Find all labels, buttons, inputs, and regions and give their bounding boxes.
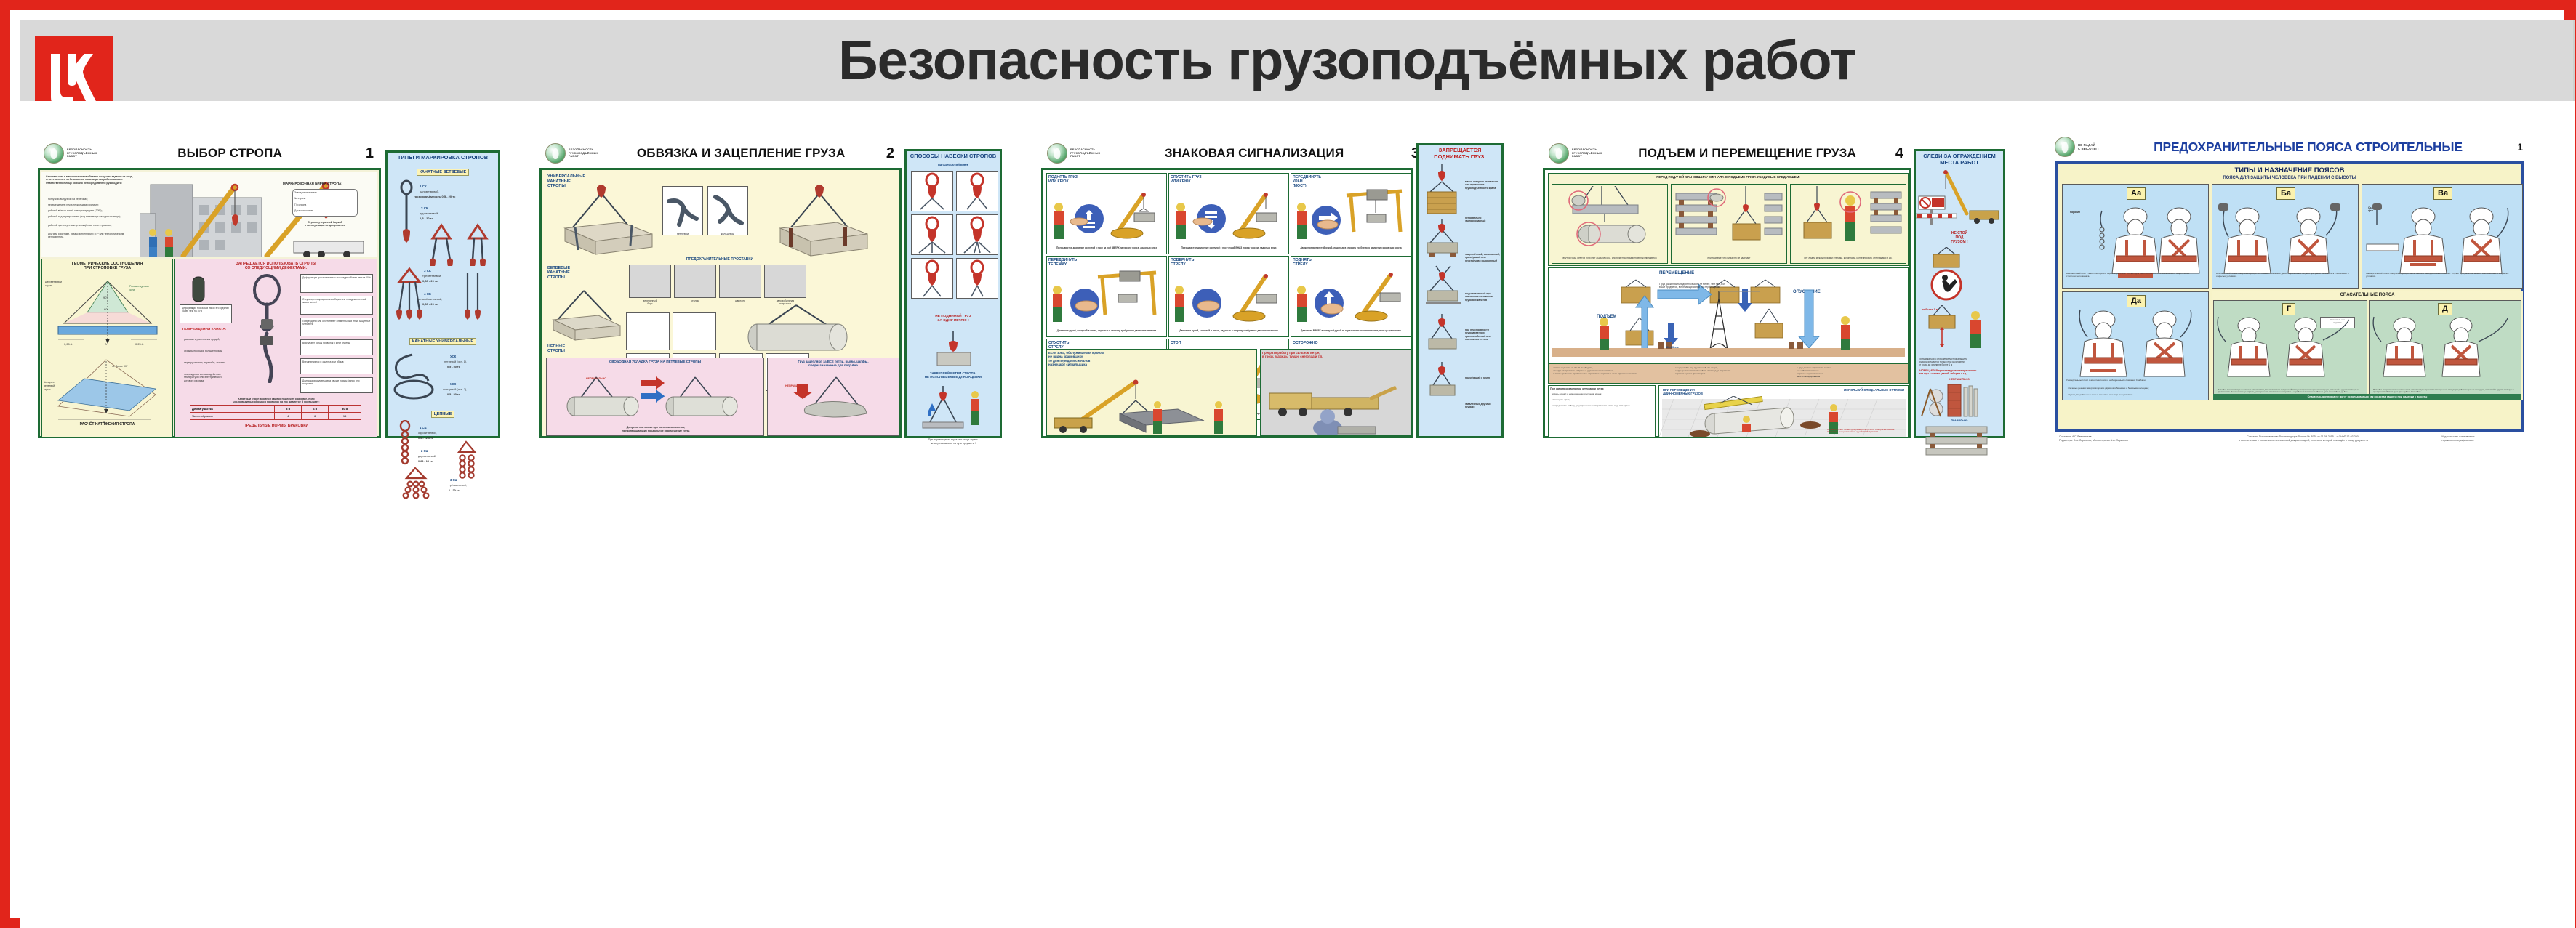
signal-name-4: ПОВЕРНУТЬ СТРЕЛУ <box>1169 257 1288 268</box>
svg-text:4 СК: 4 СК <box>424 292 431 296</box>
tag-note: Строп с утерянной биркой к эксплуатации … <box>289 219 361 229</box>
rescue-title: СПАСАТЕЛЬНЫЕ ПОЯСА <box>2212 291 2523 299</box>
check-text-0: внутри груза (внутри труб) нет льда, мус… <box>1552 255 1667 261</box>
poster-2-side-title: СПОСОБЫ НАВЕСКИ СТРОПОВ <box>907 151 1000 161</box>
rope-damage-1: обрывы проволок больше нормы; <box>182 348 233 354</box>
th-2: 6 d <box>302 406 329 413</box>
p2-bottom-left-title: СВОБОДНАЯ УКЛАДКА ГРУЗА НА ПЕТЛЕВЫЕ СТРО… <box>547 358 763 366</box>
signal-name-8: ОСТОРОЖНО <box>1291 339 1411 347</box>
svg-text:зона: зона <box>129 289 135 291</box>
tag-title: МАРКИРОВОЧНАЯ БИРКА СТРОПА: <box>281 180 344 187</box>
poster-1-head: БЕЗОПАСНОСТЬ ГРУЗОПОДЪЁМНЫХ РАБОТ ВЫБОР … <box>38 139 381 168</box>
norms-title: ПРЕДЕЛЬНЫЕ НОРМЫ БРАКОВКИ <box>175 422 377 429</box>
svg-text:Двухветвевой: Двухветвевой <box>45 281 62 283</box>
signal-name-5: ПОДНЯТЬ СТРЕЛУ <box>1291 257 1411 268</box>
stand-inner-area: ЛУКОЙЛ Безопасность грузоподъёмных работ… <box>20 20 2575 928</box>
svg-text:петлевой (исп. 1),: петлевой (исп. 1), <box>444 360 467 363</box>
poster-3-body: ПОДНЯТЬ ГРУЗ ИЛИ КРЮК <box>1041 168 1413 438</box>
p3-bottom-left-note: Если зона, обслуживаемая краном, не видн… <box>1047 350 1256 368</box>
poster-4-head: БЕЗОПАСНОСТЬ ГРУЗОПОДЪЁМНЫХ РАБОТ ПОДЪЕМ… <box>1543 139 1911 168</box>
intro-bullet-2: работой вблизи линий электропередачи (ЛЭ… <box>47 208 138 214</box>
emblem-caption: БЕЗОПАСНОСТЬ ГРУЗОПОДЪЁМНЫХ РАБОТ <box>1070 148 1100 158</box>
poster-4-side: СЛЕДИ ЗА ОГРАЖДЕНИЕМ МЕСТА РАБОТ <box>1914 149 2005 438</box>
knot-box-0: петлевой <box>662 186 703 235</box>
signal-name-3: ПЕРЕДВИНУТЬ ТЕЛЕЖКУ <box>1047 257 1166 268</box>
th-0: Длина участка <box>190 406 275 413</box>
geometry-panel: ГЕОМЕТРИЧЕСКИЕ СООТНОШЕНИЯ ПРИ СТРОПОВКЕ… <box>41 259 173 437</box>
p4-mid-note: следи, чтобы под грузом не было людей, а… <box>1674 366 1783 377</box>
p2-bottom-left-tag-1: ПРАВИЛЬНО <box>647 393 667 399</box>
poster-5-footer-center: Согласно Постановлению Ростехнадзора Рос… <box>2194 435 2412 442</box>
side-badge-0: КАНАТНЫЕ ВЕТВЕВЫЕ <box>417 169 470 176</box>
svg-text:1 СК: 1 СК <box>420 185 427 188</box>
svg-text:0,25 A: 0,25 A <box>135 342 144 346</box>
p2-bottom-mid-title: Груз зацепляют за ВСЕ петли, рымы, цапфы… <box>768 358 899 368</box>
poster-1-body: Стропальщик и машинист крана обязаны пол… <box>38 168 381 438</box>
spacer-label-0: деревянный брус <box>629 298 671 307</box>
poster-3[interactable]: БЕЗОПАСНОСТЬ ГРУЗОПОДЪЁМНЫХ РАБОТ ЗНАКОВ… <box>1041 139 1504 438</box>
p3-side-bullet-2: защемлённый, засыпанный, примёрзший или … <box>1464 251 1501 264</box>
poster-5[interactable]: НЕ ПАДАЙ С ВЫСОТЫ ! ПРЕДОХРАНИТЕЛЬНЫЕ ПО… <box>2049 134 2530 444</box>
check-cell-0: внутри груза (внутри труб) нет льда, мус… <box>1552 184 1668 264</box>
hook-cell-0 <box>626 312 670 350</box>
hook-method-5 <box>956 258 998 299</box>
p2-side-bottom-title: ЗАКРЕПЛЯЙ ВЕТВИ СТРОПА, НЕ ИСПОЛЬЗУЕМЫЕ … <box>907 370 1000 381</box>
poster-2[interactable]: БЕЗОПАСНОСТЬ ГРУЗОПОДЪЁМНЫХ РАБОТ ОБВЯЗК… <box>539 139 1002 438</box>
svg-text:0,25 A: 0,25 A <box>64 342 73 346</box>
poster-4-body: ПЕРЕД ПОДАЧЕЙ КРАНОВЩИКУ СИГНАЛА О ПОДЪЕ… <box>1543 168 1911 438</box>
intro-bullet-3: работой над перекрытиями (под ними могут… <box>47 214 138 219</box>
svg-text:двухветвевой,: двухветвевой, <box>418 455 436 458</box>
safety-emblem-icon <box>2055 137 2075 157</box>
check-text-2: нет людей между грузом и стенами, колонн… <box>1791 255 1906 261</box>
tag-line-1: № стропа <box>293 195 357 201</box>
defect-callout-left: Деформация троса или износ его средних б… <box>180 304 232 323</box>
defect-text-2: Повреждены или отсутствуют элементы или … <box>301 318 372 327</box>
hook-method-0 <box>911 171 953 211</box>
p4-side-dist-label: не более 1 м <box>1920 307 1939 312</box>
p4-pipe-note: Оттяжки служат только для разворота груз… <box>1826 427 1906 436</box>
emblem-caption: БЕЗОПАСНОСТЬ ГРУЗОПОДЪЁМНЫХ РАБОТ <box>569 148 598 158</box>
poster-4-title: ПОДЪЕМ И ПЕРЕМЕЩЕНИЕ ГРУЗА <box>1602 146 1895 161</box>
svg-text:0,5 - 50 тс: 0,5 - 50 тс <box>447 393 460 396</box>
poster-5-footer-left: Составил: А.Г. Лаврентьев Редакторы: А.А… <box>2059 435 2168 442</box>
defect-text-5: Длина каната уменьшена свыше нормы (изно… <box>301 378 372 387</box>
stand-header: ЛУКОЙЛ Безопасность грузоподъёмных работ <box>20 20 2575 101</box>
belt-code-Ba: Ба <box>2276 187 2295 200</box>
p4-bottom-left: При самопроизвольном опускании груза: по… <box>1548 385 1656 437</box>
svg-text:3 СЦ: 3 СЦ <box>450 478 458 482</box>
p4-low-left-2: не продолжать работу до устранения неисп… <box>1549 403 1655 409</box>
hook-method-3 <box>956 214 998 255</box>
svg-text:A: A <box>105 342 107 346</box>
rope-left-note: Деформация троса или износ его средних б… <box>180 305 231 314</box>
defect-callout-4: Внешние износ и зацепка или обрыв <box>300 358 373 374</box>
phase-label-1: ПЕРЕМЕЩЕНИЕ <box>1658 270 1696 278</box>
side-badge-2: ЦЕПНЫЕ <box>431 411 455 418</box>
emblem-caption: БЕЗОПАСНОСТЬ ГРУЗОПОДЪЁМНЫХ РАБОТ <box>67 148 97 158</box>
spacer-label-2: швеллер <box>719 298 761 304</box>
belt-code-D: Д <box>2438 303 2452 315</box>
belt-desc-Da: Универсальный пояс с амортизатором и наб… <box>2065 378 2206 384</box>
spacer-2 <box>719 265 761 298</box>
svg-text:одноветвевой,: одноветвевой, <box>418 432 437 435</box>
p4-side-warn: НЕ СТОЙ ПОД ГРУЗОМ ! <box>1916 230 2003 246</box>
p4-down-note: • груз должен опускаться плавно на забла… <box>1796 366 1905 379</box>
poster-5-number: 1 <box>2517 141 2523 153</box>
svg-text:0,5 - 12,5 тс: 0,5 - 12,5 тс <box>418 437 433 440</box>
svg-text:2 СЦ: 2 СЦ <box>421 449 429 453</box>
poster-3-head: БЕЗОПАСНОСТЬ ГРУЗОПОДЪЁМНЫХ РАБОТ ЗНАКОВ… <box>1041 139 1427 168</box>
safety-emblem-icon <box>1047 143 1067 164</box>
p3-bottom-right: Прекрати работу при сильном ветре, в гро… <box>1260 349 1411 436</box>
svg-text:0,5 - 50 тс: 0,5 - 50 тс <box>447 366 460 368</box>
p4-notes-strip: • после подъёма на 20-30 см убедись, что… <box>1548 363 1909 384</box>
poster-5-head: НЕ ПАДАЙ С ВЫСОТЫ ! ПРЕДОХРАНИТЕЛЬНЫЕ ПО… <box>2049 134 2530 159</box>
rope-damage-title: ПОВРЕЖДЕНИЯ КАНАТА: <box>181 326 228 334</box>
signal-cell-0: ПОДНЯТЬ ГРУЗ ИЛИ КРЮК <box>1046 173 1167 254</box>
hook-method-2 <box>911 214 953 255</box>
th-1: 3 d <box>275 406 302 413</box>
safety-emblem-icon <box>44 143 64 164</box>
poster-5-subtitle2: ПОЯСА ДЛЯ ЗАЩИТЫ ЧЕЛОВЕКА ПРИ ПАДЕНИИ С … <box>2058 174 2521 180</box>
p2-bottom-left-note: Допускается только при наличии элементов… <box>547 424 764 434</box>
defect-text-4: Внешние износ и зацепка или обрыв <box>301 359 372 365</box>
svg-text:не более 90°: не более 90° <box>112 365 128 368</box>
svg-text:строп: строп <box>45 284 52 287</box>
svg-text:ветвевой: ветвевой <box>44 384 55 387</box>
td-2: 6 <box>302 413 329 420</box>
defects-title: ЗАПРЕЩАЕТСЯ ИСПОЛЬЗОВАТЬ СТРОПЫ СО СЛЕДУ… <box>175 259 377 272</box>
p4-lift-note: • после подъёма на 20-30 см убедись, что… <box>1552 366 1661 377</box>
tag-line-2: Г/п стропа <box>293 202 357 208</box>
emblem-caption: НЕ ПАДАЙ С ВЫСОТЫ ! <box>2078 143 2099 151</box>
svg-text:УСК: УСК <box>450 355 457 358</box>
p3-side-bullet-3: подготовленный при наклонном положении г… <box>1464 291 1501 303</box>
intro-text: Стропальщик и машинист крана обязаны пол… <box>44 174 139 186</box>
emblem-caption: БЕЗОПАСНОСТЬ ГРУЗОПОДЪЁМНЫХ РАБОТ <box>1572 148 1602 158</box>
rescue-warn-strip: Спасательные пояса не могут использовать… <box>2213 394 2521 400</box>
defect-callout-5: Длина каната уменьшена свыше нормы (изно… <box>300 377 373 393</box>
calc-title: РАСЧЁТ НАТЯЖЕНИЯ СТРОПА <box>42 421 172 428</box>
p4-move-note: • груз должен быть поднят на высоту не м… <box>1658 281 1781 290</box>
p2-side-bottom-note: При перемещении груза они могут задеть з… <box>907 437 1000 446</box>
belt-code-Aa: Аа <box>2127 187 2146 200</box>
p4-pipe-title: ПРИ ПЕРЕМЕЩЕНИИ ДЛИННОМЕРНЫХ ГРУЗОВ <box>1661 387 1704 397</box>
spacer-label-1: уголок <box>674 298 716 304</box>
svg-text:1 СЦ: 1 СЦ <box>420 426 428 429</box>
svg-text:двухветвевой,: двухветвевой, <box>420 211 438 215</box>
poster-4[interactable]: БЕЗОПАСНОСТЬ ГРУЗОПОДЪЁМНЫХ РАБОТ ПОДЪЕМ… <box>1543 139 2005 438</box>
intro-bullet-1: перемещением груза несколькими кранами; <box>47 202 138 208</box>
signal-desc-3: Движение рукой, согнутой в кисти, ладонь… <box>1047 328 1166 334</box>
spacer-1 <box>674 265 716 298</box>
poster-3-side-title: ЗАПРЕЩАЕТСЯ ПОДНИМАТЬ ГРУЗ: <box>1419 145 1501 161</box>
hook-method-4 <box>911 258 953 299</box>
hook-cell-1 <box>673 312 716 350</box>
p4-pipe-title2: ИСПОЛЬЗУЙ СПЕЦИАЛЬНЫЕ ОТТЯЖКИ <box>1842 387 1906 393</box>
poster-1[interactable]: БЕЗОПАСНОСТЬ ГРУЗОПОДЪЁМНЫХ РАБОТ ВЫБОР … <box>38 139 500 438</box>
p3-side-bullet-4: при неисправности грузозахватных приспос… <box>1464 327 1501 342</box>
p4-side-dist-note: Приближаться к опускаемому стропальщику … <box>1916 356 2003 368</box>
svg-text:1 - 20 тс: 1 - 20 тс <box>449 489 460 492</box>
check-text-1: при подъёме груз ни за что не задевает <box>1672 255 1786 261</box>
td-1: 4 <box>275 413 302 420</box>
defect-table: Длина участка 3 d 6 d 30 d Число обрывов… <box>190 405 361 420</box>
poster-3-side: ЗАПРЕЩАЕТСЯ ПОДНИМАТЬ ГРУЗ: масса которо… <box>1416 143 1504 438</box>
belt-code-Da: Да <box>2127 295 2146 307</box>
svg-text:четырёхветвевой,: четырёхветвевой, <box>418 297 442 301</box>
crane-scene: Стропальщик и машинист крана обязаны пол… <box>41 172 377 257</box>
p4-pipe-scene: ПРИ ПЕРЕМЕЩЕНИИ ДЛИННОМЕРНЫХ ГРУЗОВ ИСПО… <box>1658 385 1909 437</box>
rescue-belts-panel: СПАСАТЕЛЬНЫЕ ПОЯСА Г Спасательная верёвк… <box>2212 291 2523 400</box>
svg-text:60°: 60° <box>104 307 108 311</box>
side-badge-1: КАНАТНЫЕ УНИВЕРСАЛЬНЫЕ <box>409 338 476 345</box>
p4-checks-band: ПЕРЕД ПОДАЧЕЙ КРАНОВЩИКУ СИГНАЛА О ПОДЪЕ… <box>1548 173 1909 266</box>
knot-label-0: петлевой <box>663 231 702 235</box>
intro-bullet-0: погрузкой-выгрузкой на перегонах; <box>47 196 138 202</box>
belt-desc-Va: Универсальный пояс с амортизатором, с на… <box>2364 271 2520 280</box>
intro-bullet-4: работой при отсутствии утверждённых схем… <box>47 222 138 228</box>
poster-4-side-title: СЛЕДИ ЗА ОГРАЖДЕНИЕМ МЕСТА РАБОТ <box>1916 151 2003 167</box>
svg-text:трёхветвевой,: трёхветвевой, <box>422 274 441 278</box>
svg-text:УСК: УСК <box>450 382 457 386</box>
poster-1-number: 1 <box>366 145 374 162</box>
p3-side-bullet-1: неправильно застропованный <box>1464 215 1501 225</box>
poster-5-body: ТИПЫ И НАЗНАЧЕНИЕ ПОЯСОВ ПОЯСА ДЛЯ ЗАЩИТ… <box>2055 161 2524 432</box>
p2-block3-title: ЦЕПНЫЕ СТРОПЫ <box>546 343 566 355</box>
belt-desc-Aa: Безлямочный пояс с амортизатором и одним… <box>2065 271 2206 280</box>
hook-method-1 <box>956 171 998 211</box>
poster-2-title: ОБВЯЗКА И ЗАЦЕПЛЕНИЕ ГРУЗА <box>598 146 886 161</box>
signal-desc-0: Прерывистое движение согнутой к носу за … <box>1047 245 1166 251</box>
p4-low-left-1: освободить крюк; <box>1549 398 1655 403</box>
spacer-3 <box>764 265 806 298</box>
signal-name-7: СТОП <box>1169 339 1288 347</box>
p4-low-left-title: При самопроизвольном опускании груза: <box>1549 386 1655 392</box>
belt-desc-Ba: Безлямочный пояс с амортизатором, с плеч… <box>2215 271 2356 280</box>
svg-text:Рекомендуемая: Рекомендуемая <box>129 285 149 288</box>
svg-text:3 СК: 3 СК <box>424 269 431 273</box>
svg-text:90°: 90° <box>103 296 108 299</box>
poster-1-side-title: ТИПЫ И МАРКИРОВКА СТРОПОВ <box>388 153 498 163</box>
belt-box-Da: Да <box>2062 291 2209 400</box>
svg-text:2 СК: 2 СК <box>421 206 428 210</box>
belt-box-G: Г Спасательная верёвка <box>2213 300 2367 398</box>
poster-2-body: УНИВЕРСАЛЬНЫЕ КАНАТНЫЕ СТРОПЫ <box>539 168 902 438</box>
poster-2-side-sub: на однорогий крюк <box>907 161 1000 169</box>
p3-side-bullet-5: примёрзший к земле <box>1464 375 1501 381</box>
poster-2-side: СПОСОБЫ НАВЕСКИ СТРОПОВ на однорогий крю… <box>904 149 1002 438</box>
p3-bottom-right-note: Прекрати работу при сильном ветре, в гро… <box>1261 350 1411 360</box>
safety-stand-frame: ЛУКОЙЛ Безопасность грузоподъёмных работ… <box>0 0 2576 928</box>
svg-text:0,63 - 20 тс: 0,63 - 20 тс <box>422 302 438 306</box>
poster-1-title: ВЫБОР СТРОПА <box>97 146 365 161</box>
p2-bottom-mid-tag: НЕПРАВИЛЬНО <box>784 383 807 389</box>
svg-text:0,63 - 20 тс: 0,63 - 20 тс <box>422 279 438 283</box>
p2-bottom-mid: Груз зацепляют за ВСЕ петли, рымы, цапфы… <box>767 358 899 436</box>
tag-line-3: Дата испытания <box>293 208 357 214</box>
defect-callout-3: Выступают концы проволок у мест сплетки <box>300 339 373 355</box>
defects-panel: ЗАПРЕЩАЕТСЯ ИСПОЛЬЗОВАТЬ СТРОПЫ СО СЛЕДУ… <box>174 259 377 437</box>
signal-cell-3: ПЕРЕДВИНУТЬ ТЕЛЕЖКУ Движение рукой, согн… <box>1046 256 1167 337</box>
svg-text:трёхветвевой,: трёхветвевой, <box>449 484 467 487</box>
p4-low-left-0: подать сигнал о немедленном опускании кр… <box>1549 392 1655 398</box>
rope-damage-2: перекручивания, перегибы, заломы; <box>182 360 233 366</box>
poster-2-number: 2 <box>886 145 894 162</box>
belt-da-bullet-0: плечевые ремни с амортизатором и двумя к… <box>2066 386 2206 392</box>
svg-text:одноветвевой,: одноветвевой, <box>420 190 439 193</box>
p4-top-banner: ПЕРЕД ПОДАЧЕЙ КРАНОВЩИКУ СИГНАЛА О ПОДЪЕ… <box>1549 174 1908 180</box>
poster-5-title: ПРЕДОХРАНИТЕЛЬНЫЕ ПОЯСА СТРОИТЕЛЬНЫЕ <box>2099 140 2517 155</box>
spacer-title: ПРЕДОХРАНИТЕЛЬНЫЕ ПРОСТАВКИ <box>629 256 811 263</box>
defect-callout-1: Отсутствует маркировочная бирка или пред… <box>300 296 373 315</box>
poster-4-number: 4 <box>1895 145 1903 162</box>
td-0: Число обрывов <box>190 413 275 420</box>
poster-5-footer-right: Издательство-изготовитель тиражно-полигр… <box>2441 435 2521 442</box>
knot-box-1: кольцевой <box>707 186 748 235</box>
signal-name-0: ПОДНЯТЬ ГРУЗ ИЛИ КРЮК <box>1047 174 1166 185</box>
belt-code-G: Г <box>2282 303 2295 315</box>
p4-side-stack-tag-0: НЕПРАВИЛЬНО <box>1916 376 2003 382</box>
svg-text:0,5 - 20 тс: 0,5 - 20 тс <box>420 217 434 220</box>
poster-1-side: ТИПЫ И МАРКИРОВКА СТРОПОВ КАНАТНЫЕ ВЕТВЕ… <box>385 150 500 438</box>
rope-damage-3: повреждения из-за воздействия температур… <box>182 371 233 384</box>
safety-emblem-icon <box>545 143 566 164</box>
rope-damage-0: разрывы и расслоения прядей; <box>182 336 233 342</box>
signal-cell-1: ОПУСТИТЬ ГРУЗ ИЛИ КРЮК <box>1168 173 1289 254</box>
svg-text:строп: строп <box>44 388 50 391</box>
signal-cell-5: ПОДНЯТЬ СТРЕЛУ Движение ВВЕРХ вытянутой … <box>1291 256 1411 337</box>
check-cell-1: при подъёме груз ни за что не задевает <box>1671 184 1787 264</box>
poster-2-head: БЕЗОПАСНОСТЬ ГРУЗОПОДЪЁМНЫХ РАБОТ ОБВЯЗК… <box>539 139 902 168</box>
p3-bottom-left: Если зона, обслуживаемая краном, не видн… <box>1046 349 1257 436</box>
signal-cell-2: ПЕРЕДВИНУТЬ КРАН (МОСТ) Движение вытянут… <box>1291 173 1411 254</box>
check-cell-2: нет людей между грузом и стенами, колонн… <box>1790 184 1906 264</box>
defect-text-0: Деформация троса или износ его средних б… <box>301 275 372 281</box>
knot-label-1: кольцевой <box>708 231 747 235</box>
signal-desc-4: Движение рукой, согнутой в кисти, ладонь… <box>1169 328 1288 334</box>
spacer-0 <box>629 265 671 298</box>
safety-emblem-icon <box>1549 143 1569 164</box>
marking-tag: Завод-изготовитель № стропа Г/п стропа Д… <box>292 189 358 217</box>
svg-text:0,63 - 16 тс: 0,63 - 16 тс <box>418 460 433 463</box>
p2-bottom-left-tag-0: НЕПРАВИЛЬНО <box>585 376 608 382</box>
signal-desc-1: Прерывистое движение согнутой к носу рук… <box>1169 245 1288 251</box>
belt-code-Va: Ва <box>2433 187 2452 200</box>
signal-name-1: ОПУСТИТЬ ГРУЗ ИЛИ КРЮК <box>1169 174 1288 185</box>
posters-row: БЕЗОПАСНОСТЬ ГРУЗОПОДЪЁМНЫХ РАБОТ ВЫБОР … <box>20 101 2575 928</box>
signal-desc-2: Движение вытянутой рукой, ладонью в стор… <box>1291 245 1411 251</box>
poster-3-title: ЗНАКОВАЯ СИГНАЛИЗАЦИЯ <box>1100 146 1411 161</box>
p4-height-label: 20-30 см <box>1665 344 1680 350</box>
tag-line-0: Завод-изготовитель <box>293 190 357 195</box>
svg-text:грузоподъёмность 0,5 - 20 тс: грузоподъёмность 0,5 - 20 тс <box>414 195 456 198</box>
page-title: Безопасность грузоподъёмных работ <box>151 20 2543 101</box>
signal-cell-4: ПОВЕРНУТЬ СТРЕЛУ Движение рукой, согнуто… <box>1168 256 1289 337</box>
p4-side-stack-tag-1: ПРАВИЛЬНО <box>1916 418 2003 424</box>
defect-text-3: Выступают концы проволок у мест сплетки <box>301 340 372 346</box>
poster-5-subtitle: ТИПЫ И НАЗНАЧЕНИЕ ПОЯСОВ <box>2058 164 2521 174</box>
p4-phase-band: ПЕРЕМЕЩЕНИЕ ПОДЪЕМ ОПУСКАНИЕ <box>1548 267 1909 363</box>
svg-text:кольцевой (исп. 2),: кольцевой (исп. 2), <box>443 388 467 391</box>
svg-text:Четырёх-: Четырёх- <box>44 381 55 384</box>
p2-block2-title: ВЕТВЕВЫЕ КАНАТНЫЕ СТРОПЫ <box>546 265 571 281</box>
intro-bullet-5: другими работами, предусмотренными ППР и… <box>47 231 138 241</box>
defect-text-1: Отсутствует маркировочная бирка или пред… <box>301 296 372 305</box>
defect-callout-0: Деформация троса или износ его средних б… <box>300 274 373 293</box>
signal-desc-5: Движение ВВЕРХ вытянутой рукой из горизо… <box>1291 328 1411 334</box>
p2-bottom-left: СВОБОДНАЯ УКЛАДКА ГРУЗА НА ПЕТЛЕВЫЕ СТРО… <box>546 358 764 436</box>
p4-side-stack-title: ЗАПРЕЩАЕТСЯ при складировании прислонять… <box>1916 368 2003 376</box>
p3-side-bullet-6: заваленный другими грузами <box>1464 401 1501 411</box>
belt-da-bullet-1: служит для работ на высоте в стеснённых … <box>2066 392 2206 398</box>
belt-box-D: Д <box>2369 300 2521 398</box>
p2-side-warn: НЕ ПОДНИМАЙ ГРУЗ ЗА ОДНУ ПЕТЛЮ ! <box>907 313 1000 325</box>
geometry-title: ГЕОМЕТРИЧЕСКИЕ СООТНОШЕНИЯ ПРИ СТРОПОВКЕ… <box>42 259 172 273</box>
td-3: 16 <box>329 413 361 420</box>
th-3: 30 d <box>329 406 361 413</box>
defect-callout-2: Повреждены или отсутствуют элементы или … <box>300 318 373 336</box>
p3-side-bullet-0: масса которого неизвестна или превышает … <box>1464 179 1501 191</box>
